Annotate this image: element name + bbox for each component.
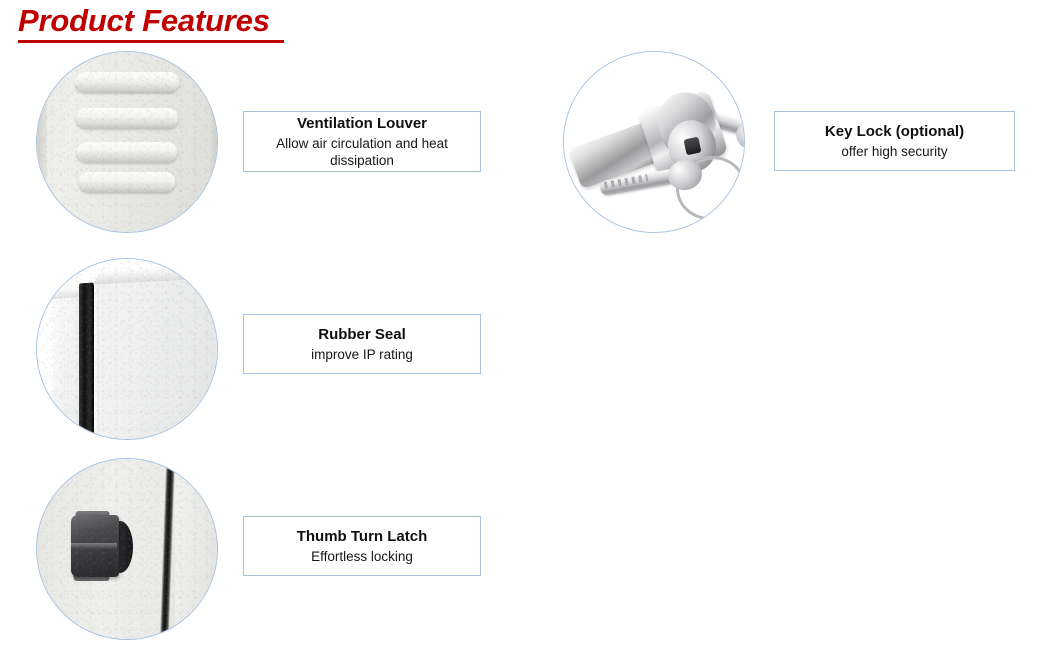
- ventilation-louver-photo: [36, 51, 218, 233]
- feature-description: improve IP rating: [311, 346, 413, 363]
- feature-label-ventilation-louver: Ventilation Louver Allow air circulation…: [243, 111, 481, 172]
- key-lock-image-inner: [564, 52, 744, 232]
- feature-title: Rubber Seal: [318, 325, 406, 345]
- feature-label-key-lock: Key Lock (optional) offer high security: [774, 111, 1015, 171]
- feature-label-rubber-seal: Rubber Seal improve IP rating: [243, 314, 481, 374]
- feature-label-thumb-turn-latch: Thumb Turn Latch Effortless locking: [243, 516, 481, 576]
- latch-texture-overlay: [37, 459, 217, 639]
- feature-description: Allow air circulation and heat dissipati…: [254, 135, 470, 169]
- cam-lock-keyhole: [684, 137, 702, 156]
- rubber-seal-texture-overlay: [37, 259, 217, 439]
- feature-title: Thumb Turn Latch: [297, 527, 428, 547]
- thumb-turn-latch-image-inner: [37, 459, 217, 639]
- feature-description: offer high security: [841, 143, 947, 160]
- louver-texture-overlay: [37, 52, 217, 232]
- page-title: Product Features: [18, 2, 318, 40]
- feature-title: Ventilation Louver: [297, 114, 427, 134]
- feature-title: Key Lock (optional): [825, 122, 964, 142]
- page-title-block: Product Features: [18, 2, 318, 40]
- rubber-seal-photo: [36, 258, 218, 440]
- thumb-turn-latch-photo: [36, 458, 218, 640]
- rubber-seal-image-inner: [37, 259, 217, 439]
- page-title-underline: [18, 40, 284, 43]
- feature-description: Effortless locking: [311, 548, 413, 565]
- ventilation-louver-image-inner: [37, 52, 217, 232]
- key-lock-photo: [563, 51, 745, 233]
